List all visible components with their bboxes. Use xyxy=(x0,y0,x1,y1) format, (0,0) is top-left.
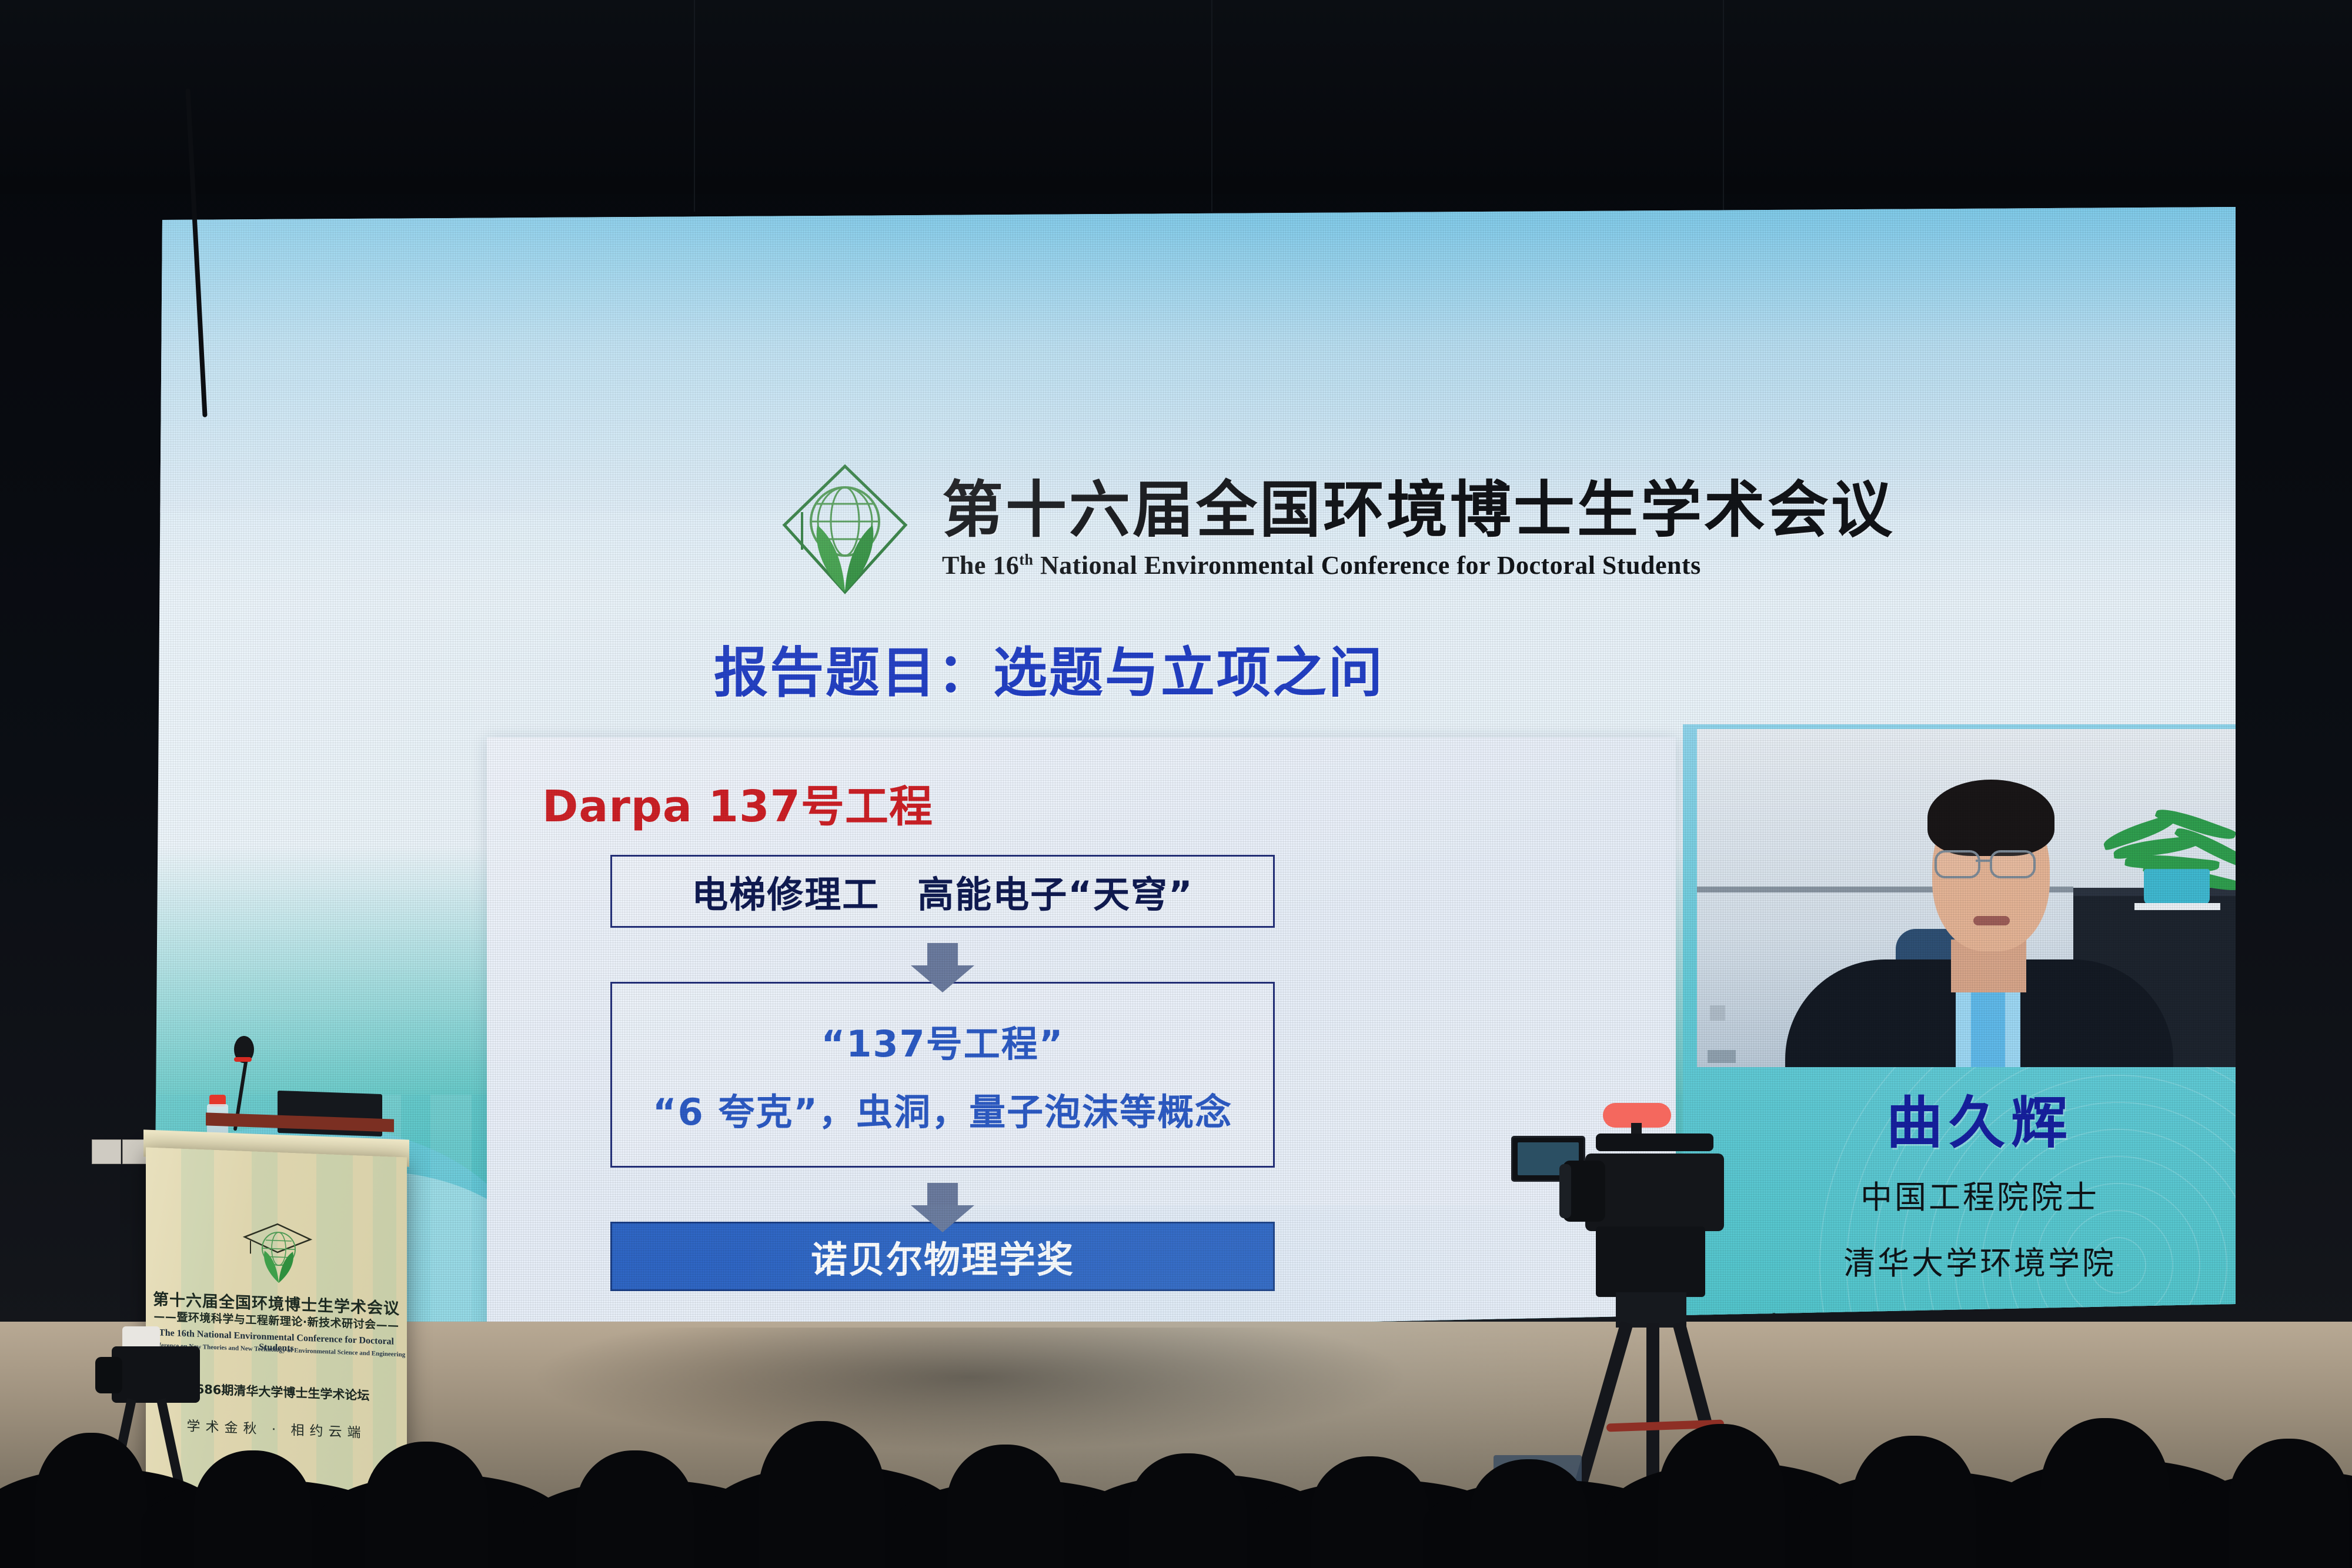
flow-box-2-line-1: “137号工程” xyxy=(821,1014,1064,1067)
flow-box-2: “137号工程” “6 夸克”，虫洞，量子泡沫等概念 xyxy=(610,982,1275,1168)
content-heading: Darpa 137号工程 xyxy=(542,771,933,834)
flow-box-2-line-2: “6 夸克”，虫洞，量子泡沫等概念 xyxy=(653,1082,1232,1135)
remote-speaker-video-feed xyxy=(1697,729,2264,1067)
wall-outlet xyxy=(92,1139,121,1164)
slide-report-title: 报告题目：选题与立项之问 xyxy=(714,629,1384,707)
led-surface: 第十六届全国环境博士生学术会议 The 16th National Enviro… xyxy=(154,207,2239,1348)
led-video-wall: 第十六届全国环境博士生学术会议 The 16th National Enviro… xyxy=(154,207,2239,1348)
conference-title-en-sup: th xyxy=(1019,551,1033,568)
seated-audience-silhouettes xyxy=(0,1346,2352,1568)
conference-title-cn: 第十六届全国环境博士生学术会议 xyxy=(942,478,1895,542)
graduation-cap-globe-leaf-logo xyxy=(240,1217,315,1289)
conference-title-en-prefix: The 16 xyxy=(942,551,1019,580)
flow-box-1: 电梯修理工 高能电子“天穹” xyxy=(610,855,1275,928)
conference-title-en: The 16th National Environmental Conferen… xyxy=(942,550,1895,580)
glasses-icon xyxy=(1990,850,2036,878)
flow-arrow-1 xyxy=(610,928,1275,982)
conference-title-en-rest: National Environmental Conference for Do… xyxy=(1033,551,1700,580)
conference-hall-scene: 第十六届全国环境博士生学术会议 The 16th National Enviro… xyxy=(0,0,2352,1568)
wall-seam xyxy=(1723,0,1724,212)
hall-ceiling-band xyxy=(0,0,2352,194)
microphone-ring xyxy=(234,1057,252,1062)
wall-seam xyxy=(1211,0,1212,212)
flow-box-3-line-1: 诺贝尔物理学奖 xyxy=(811,1230,1074,1283)
slide-content-panel: Darpa 137号工程 电梯修理工 高能电子“天穹” “137号工程” “6 … xyxy=(487,737,1676,1400)
wall-seam xyxy=(694,0,695,212)
graduation-cap-globe-leaf-logo xyxy=(771,456,918,603)
flowchart: 电梯修理工 高能电子“天穹” “137号工程” “6 夸克”，虫洞，量子泡沫等概… xyxy=(610,855,1275,1291)
flow-arrow-2 xyxy=(610,1168,1275,1222)
flow-box-1-line-1: 电梯修理工 高能电子“天穹” xyxy=(691,865,1194,918)
conference-header: 第十六届全国环境博士生学术会议 The 16th National Enviro… xyxy=(771,441,1977,617)
glasses-icon xyxy=(1935,850,1980,878)
